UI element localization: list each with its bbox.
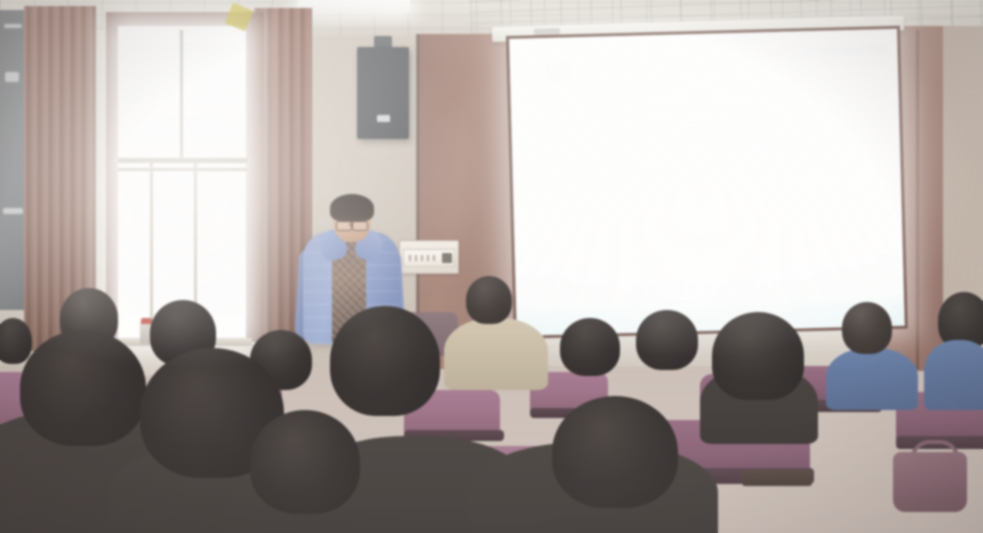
window-mullion-horizontal [118,158,248,163]
speaker-badge [377,115,390,122]
control-panel-display [442,253,452,263]
attendee-fg-left-head [20,330,146,446]
window-mullion-vertical [180,30,183,160]
handbag-icon [893,452,967,512]
attendee-right-edge-shoulders [924,340,983,410]
slide-title: 相關程序及要點說明 [512,133,900,164]
wall-control-panel[interactable] [399,240,459,274]
window-mullion-horizontal [118,168,248,171]
slide-line-1: 主講人： [514,223,902,249]
attendee-row-head [560,318,620,376]
slide-header-rule [544,63,888,73]
attendee-long-hair-head [712,312,804,400]
control-panel-inner [403,249,455,267]
presenter-hair [330,194,374,222]
slide-header-text [765,45,887,56]
wall-speaker-icon [357,47,409,139]
lecture-hall-photo: 相關程序及要點說明 主講人： 單位：農業技術推廣中心 時間：中華民國年度會議 語… [0,0,983,533]
right-column-edge [916,30,919,370]
attendee-fg-right-head [552,396,678,508]
projection-screen: 相關程序及要點說明 主講人： 單位：農業技術推廣中心 時間：中華民國年度會議 語… [506,26,908,339]
eyeglasses-bridge [349,224,353,225]
seat-tablet-arm[interactable] [742,470,812,486]
slide-line-2: 單位：農業技術推廣中心 [515,249,903,275]
slate-mark [5,72,19,82]
slate-mark [4,24,22,28]
attendee-khaki-shoulders [444,318,548,390]
attendee-edge-head [0,318,32,364]
attendee-fg-extra-head [250,410,360,514]
window-mullion-vertical [150,163,153,341]
eyeglasses-lens-right [352,221,368,231]
slate-mark [3,208,23,214]
attendee-blue-head [842,302,892,354]
projection-screen-surface: 相關程序及要點說明 主講人： 單位：農業技術推廣中心 時間：中華民國年度會議 語… [509,29,905,336]
attendee-fg-center-head [330,306,440,416]
eyeglasses-icon [336,221,352,231]
attendee-blue-shoulders [826,348,918,410]
attendee-row-head [636,310,698,370]
control-panel-switches[interactable] [409,255,439,261]
attendee-khaki-head [466,276,512,324]
fluorescent-panel-light-icon [298,0,410,12]
